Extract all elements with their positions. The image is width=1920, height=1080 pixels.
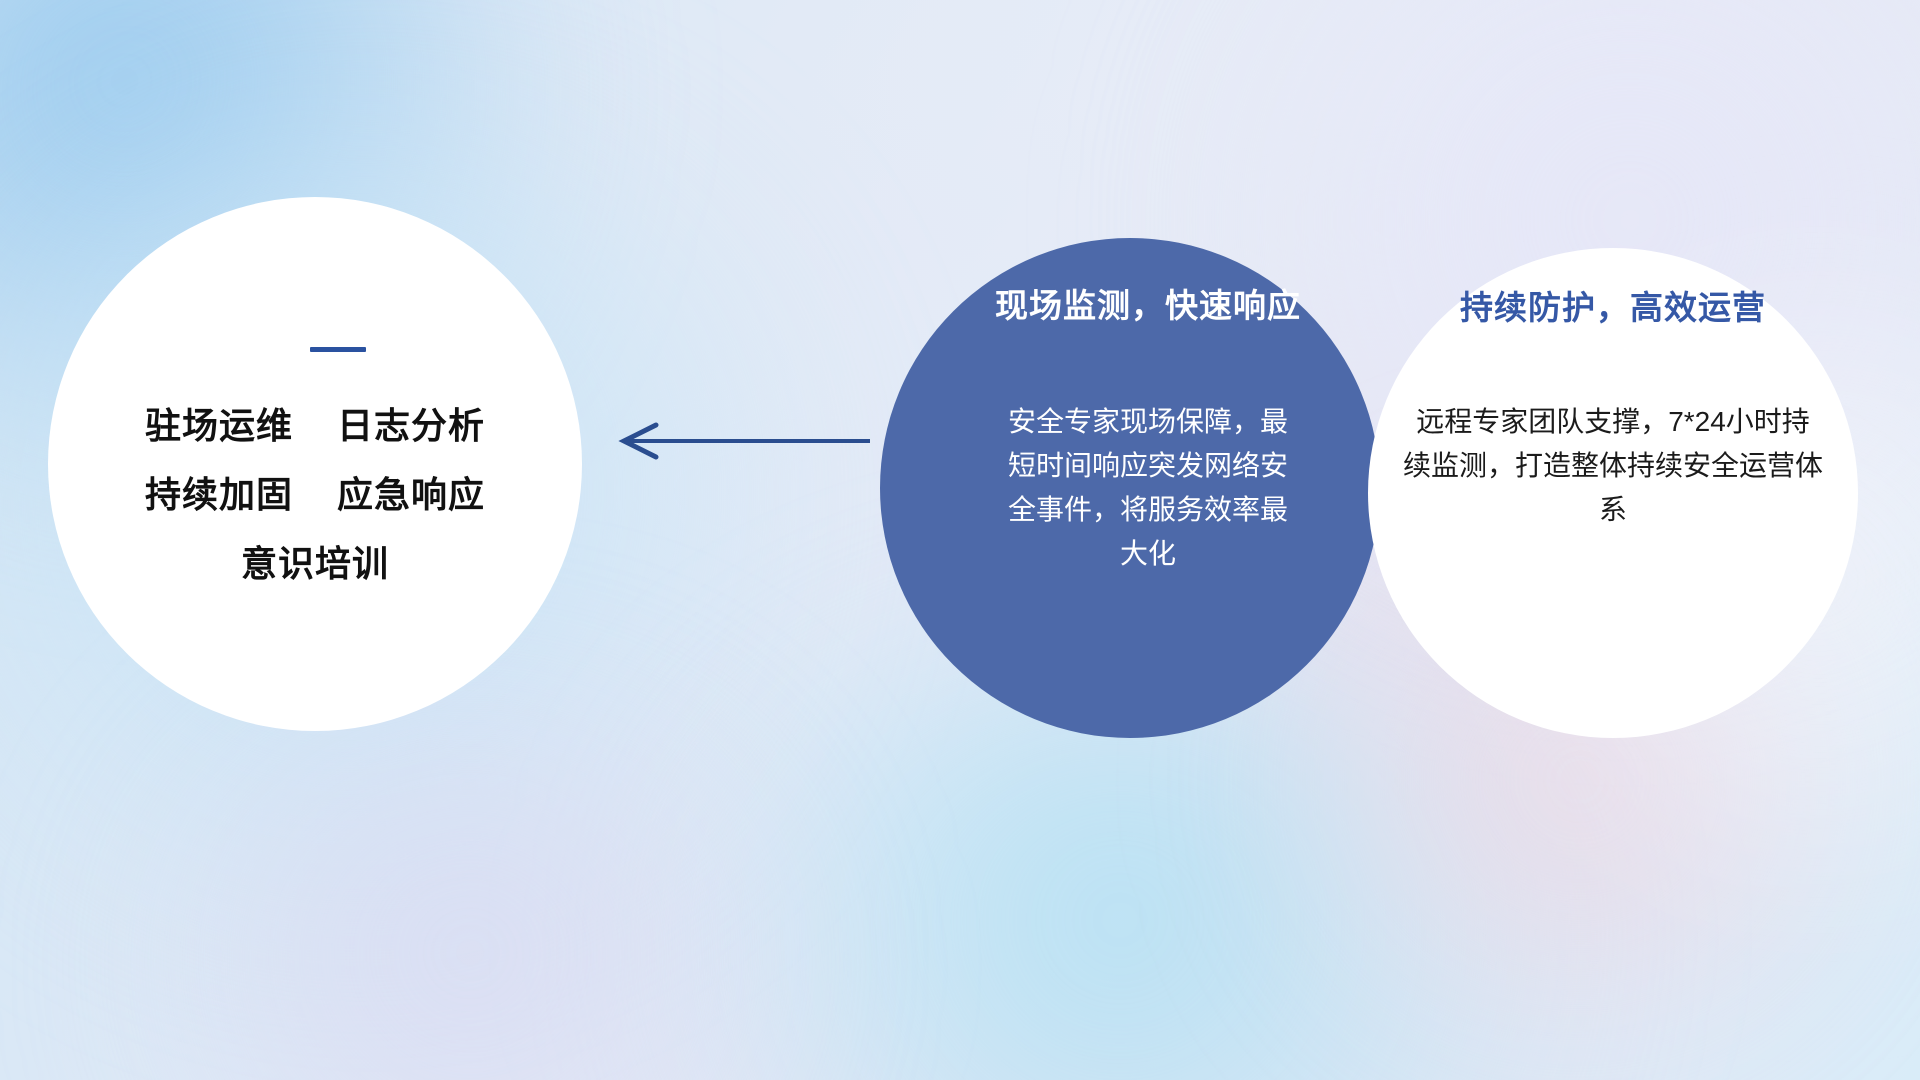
left-keyword-line-2: 持续加固 应急响应 (145, 477, 485, 513)
right-circle-title: 持续防护，高效运营 (1460, 288, 1766, 328)
right-circle-body: 远程专家团队支撑，7*24小时持续监测，打造整体持续安全运营体系 (1403, 400, 1823, 533)
left-circle-content: 驻场运维 日志分析 持续加固 应急响应 意识培训 (48, 197, 582, 731)
right-circle-content: 持续防护，高效运营 远程专家团队支撑，7*24小时持续监测，打造整体持续安全运营… (1368, 248, 1858, 738)
slide-canvas: 驻场运维 日志分析 持续加固 应急响应 意识培训 现场监测，快速响应 安全专家现… (0, 0, 1920, 1080)
middle-circle-title: 现场监测，快速响应 (995, 286, 1301, 326)
accent-divider (310, 347, 366, 352)
left-keyword-line-3: 意识培训 (241, 546, 389, 582)
middle-circle-content: 现场监测，快速响应 安全专家现场保障，最短时间响应突发网络安全事件，将服务效率最… (880, 238, 1380, 738)
middle-circle-body: 安全专家现场保障，最短时间响应突发网络安全事件，将服务效率最大化 (998, 400, 1298, 577)
left-keyword-line-1: 驻场运维 日志分析 (145, 408, 485, 444)
leftward-arrow (612, 418, 872, 464)
